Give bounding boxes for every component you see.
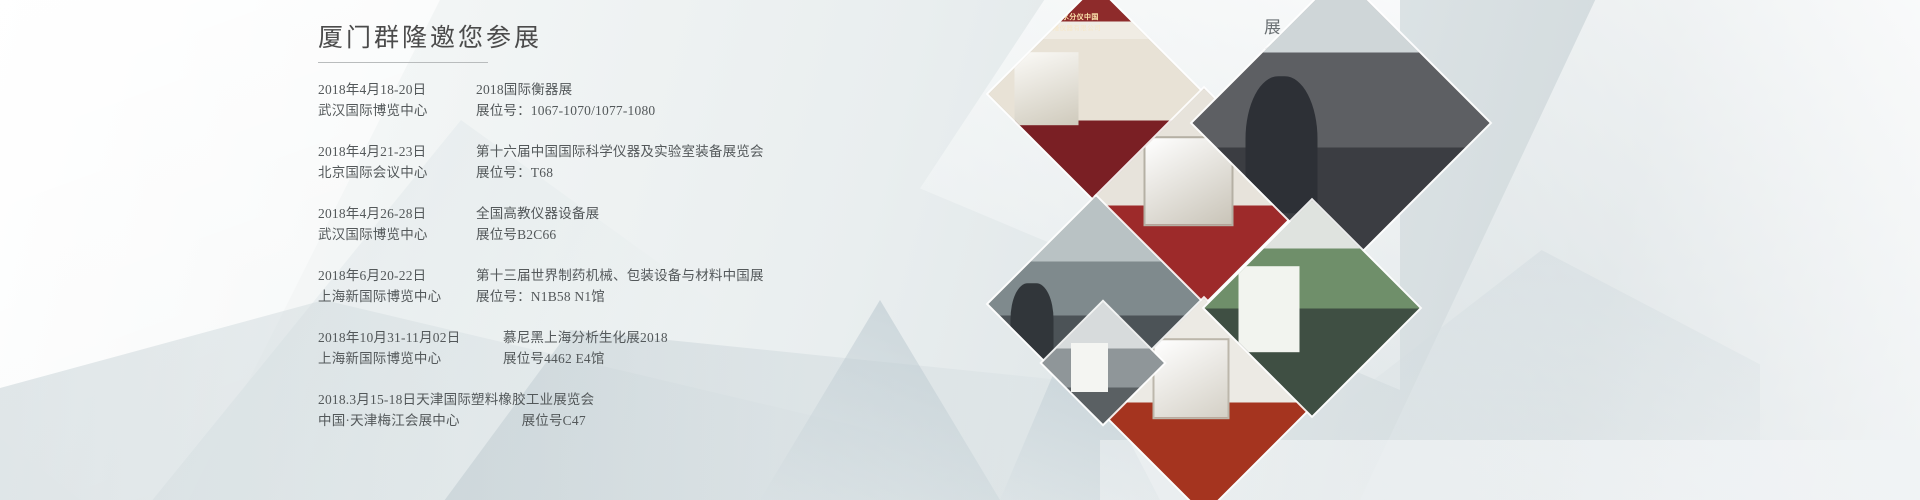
- event-row-secondary: 上海新国际博览中心 展位号：N1B58 N1馆: [318, 286, 1078, 307]
- event-row-primary: 2018年4月18-20日 2018国际衡器展: [318, 79, 1078, 100]
- list-item: 2018年6月20-22日 第十三届世界制药机械、包装设备与材料中国展 上海新国…: [318, 265, 1078, 307]
- event-name: 第十三届世界制药机械、包装设备与材料中国展: [466, 265, 764, 286]
- event-date: 2018年6月20-22日: [318, 265, 466, 286]
- event-row-secondary: 武汉国际博览中心 展位号B2C66: [318, 224, 1078, 245]
- event-venue: 中国·天津梅江会展中心: [318, 410, 518, 431]
- event-row-primary: 2018年4月21-23日 第十六届中国国际科学仪器及实验室装备展览会: [318, 141, 1078, 162]
- event-name: 2018国际衡器展: [466, 79, 572, 100]
- list-item: 2018年4月26-28日 全国高教仪器设备展 武汉国际博览中心 展位号B2C6…: [318, 203, 1078, 245]
- event-row-primary: 2018年4月26-28日 全国高教仪器设备展: [318, 203, 1078, 224]
- event-date: 2018.3月15-18日天津国际塑料橡胶工业展览会: [318, 392, 594, 407]
- event-date: 2018年4月26-28日: [318, 203, 466, 224]
- event-row-secondary: 上海新国际博览中心 展位号4462 E4馆: [318, 348, 1078, 369]
- event-date: 2018年4月21-23日: [318, 141, 466, 162]
- event-venue: 北京国际会议中心: [318, 162, 466, 183]
- event-venue: 上海新国际博览中心: [318, 286, 466, 307]
- event-row-primary: 2018年10月31-11月02日 慕尼黑上海分析生化展2018: [318, 327, 1078, 348]
- event-date: 2018年10月31-11月02日: [318, 327, 493, 348]
- photo-collage: 密度计&水分仪中国 厦门群隆仪器有限公司: [1040, 0, 1460, 500]
- list-item: 2018年4月21-23日 第十六届中国国际科学仪器及实验室装备展览会 北京国际…: [318, 141, 1078, 183]
- exhibition-list: 2018年4月18-20日 2018国际衡器展 武汉国际博览中心 展位号：106…: [318, 79, 1078, 431]
- event-booth: 展位号C47: [522, 410, 586, 431]
- list-item: 2018年4月18-20日 2018国际衡器展 武汉国际博览中心 展位号：106…: [318, 79, 1078, 121]
- list-item: 2018年10月31-11月02日 慕尼黑上海分析生化展2018 上海新国际博览…: [318, 327, 1078, 369]
- list-item: 2018.3月15-18日天津国际塑料橡胶工业展览会 中国·天津梅江会展中心 展…: [318, 389, 1078, 431]
- page-title: 厦门群隆邀您参展: [318, 22, 1078, 56]
- event-booth: 展位号B2C66: [466, 224, 556, 245]
- event-venue: 武汉国际博览中心: [318, 100, 466, 121]
- event-booth: 展位号：1067-1070/1077-1080: [466, 100, 655, 121]
- event-name: 第十六届中国国际科学仪器及实验室装备展览会: [466, 141, 764, 162]
- event-booth: 展位号：N1B58 N1馆: [466, 286, 605, 307]
- title-underline: [318, 62, 488, 63]
- booth-banner-line2: 厦门群隆仪器有限公司: [1032, 25, 1101, 32]
- event-venue: 上海新国际博览中心: [318, 348, 493, 369]
- event-row-secondary: 武汉国际博览中心 展位号：1067-1070/1077-1080: [318, 100, 1078, 121]
- event-venue: 武汉国际博览中心: [318, 224, 466, 245]
- event-name: 慕尼黑上海分析生化展2018: [493, 327, 668, 348]
- event-row-secondary: 北京国际会议中心 展位号：T68: [318, 162, 1078, 183]
- event-name: 全国高教仪器设备展: [466, 203, 599, 224]
- exhibition-text-block: 厦门群隆邀您参展 2018年4月18-20日 2018国际衡器展 武汉国际博览中…: [318, 22, 1078, 431]
- event-booth: 展位号：T68: [466, 162, 553, 183]
- event-row-secondary: 中国·天津梅江会展中心 展位号C47: [318, 410, 1078, 431]
- event-row-primary: 2018年6月20-22日 第十三届世界制药机械、包装设备与材料中国展: [318, 265, 1078, 286]
- event-row-primary: 2018.3月15-18日天津国际塑料橡胶工业展览会: [318, 389, 1078, 410]
- exhibition-banner: 厦门群隆邀您参展 2018年4月18-20日 2018国际衡器展 武汉国际博览中…: [0, 0, 1920, 500]
- event-date: 2018年4月18-20日: [318, 79, 466, 100]
- event-booth: 展位号4462 E4馆: [493, 348, 605, 369]
